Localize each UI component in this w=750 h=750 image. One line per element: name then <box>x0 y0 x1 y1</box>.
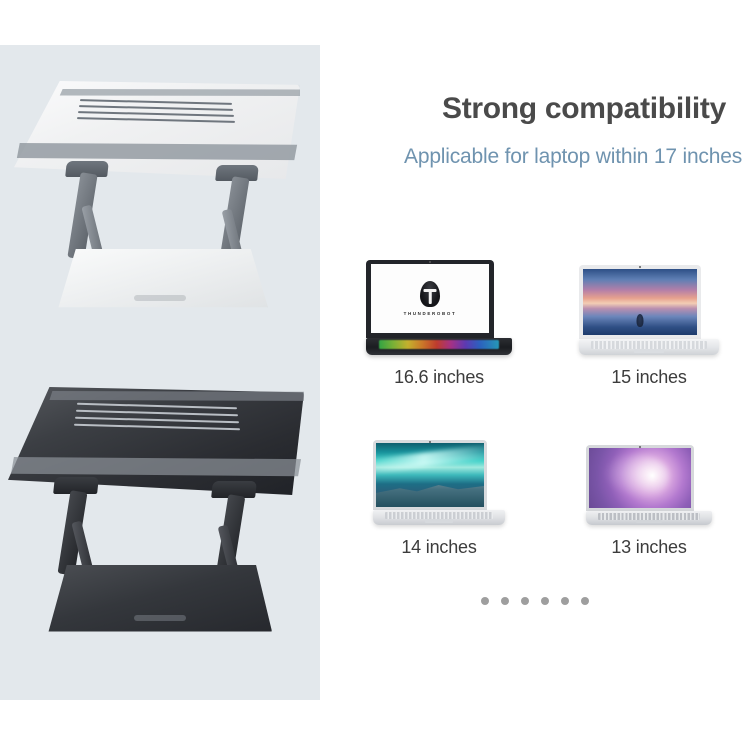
laptop-size-label-15: 15 inches <box>554 367 744 388</box>
ventilation-slots <box>78 101 238 125</box>
laptop-size-label-13: 13 inches <box>554 537 744 558</box>
laptop-thumbnail-15 <box>554 255 744 355</box>
laptop-thumbnail-13 <box>554 425 744 525</box>
compatibility-panel: Strong compatibility Applicable for lapt… <box>320 0 750 750</box>
brand-logo-black <box>134 615 186 621</box>
page-title: Strong compatibility <box>442 92 726 126</box>
laptop-card-14[interactable]: 14 inches <box>344 425 534 558</box>
product-marketing-image: Strong compatibility Applicable for lapt… <box>0 0 750 750</box>
laptop-card-13[interactable]: 13 inches <box>554 425 744 558</box>
laptop-base <box>366 338 512 355</box>
webcam-icon <box>639 266 641 268</box>
laptop-brand-wordmark: THUNDEROBOT <box>404 311 457 316</box>
thunderobot-helmet-logo <box>420 281 440 307</box>
page-subtitle: Applicable for laptop within 17 inches <box>404 145 742 169</box>
keyboard <box>591 341 707 349</box>
laptop-lid <box>579 265 701 339</box>
laptop-lid <box>373 440 487 510</box>
product-image-laptop-stand-black[interactable] <box>0 365 320 675</box>
keyboard <box>385 512 493 519</box>
product-showcase-panel <box>0 45 320 700</box>
stand-base-plate <box>52 249 268 311</box>
ventilation-slots <box>74 405 244 433</box>
carousel-dot-4[interactable] <box>541 597 549 605</box>
product-image-laptop-stand-silver[interactable] <box>0 53 320 353</box>
carousel-dot-5[interactable] <box>561 597 569 605</box>
laptop-lid: THUNDEROBOT <box>366 260 494 338</box>
laptop-illustration: THUNDEROBOT <box>366 260 512 355</box>
laptop-base <box>373 510 505 525</box>
trackpad <box>634 349 664 353</box>
laptop-illustration <box>579 265 719 355</box>
trackpad <box>636 520 662 524</box>
stand-black-artwork <box>0 365 320 675</box>
laptop-size-label-16-6: 16.6 inches <box>344 367 534 388</box>
stand-top-plate <box>8 387 304 495</box>
rgb-keyboard <box>379 340 499 349</box>
laptop-thumbnail-16-6: THUNDEROBOT <box>344 255 534 355</box>
laptop-screen: THUNDEROBOT <box>371 264 489 333</box>
laptop-size-label-14: 14 inches <box>344 537 534 558</box>
carousel-dot-1[interactable] <box>481 597 489 605</box>
webcam-icon <box>429 261 431 263</box>
stand-base-plate <box>44 565 272 635</box>
laptop-card-16-6[interactable]: THUNDEROBOT 16.6 inches <box>344 255 534 388</box>
laptop-illustration <box>373 440 505 525</box>
brand-logo-silver <box>134 295 186 301</box>
carousel-dot-2[interactable] <box>501 597 509 605</box>
laptop-base <box>579 339 719 355</box>
stand-silver-artwork <box>0 53 320 353</box>
trackpad <box>425 519 453 523</box>
carousel-dot-6[interactable] <box>581 597 589 605</box>
laptop-illustration <box>586 445 712 525</box>
carousel-dot-3[interactable] <box>521 597 529 605</box>
laptop-lid <box>586 445 694 511</box>
laptop-base <box>586 511 712 525</box>
laptop-card-15[interactable]: 15 inches <box>554 255 744 388</box>
carousel-dots[interactable] <box>320 597 750 605</box>
laptop-screen <box>376 443 484 507</box>
laptop-screen <box>589 448 691 508</box>
laptop-thumbnail-14 <box>344 425 534 525</box>
laptop-screen <box>583 269 697 335</box>
